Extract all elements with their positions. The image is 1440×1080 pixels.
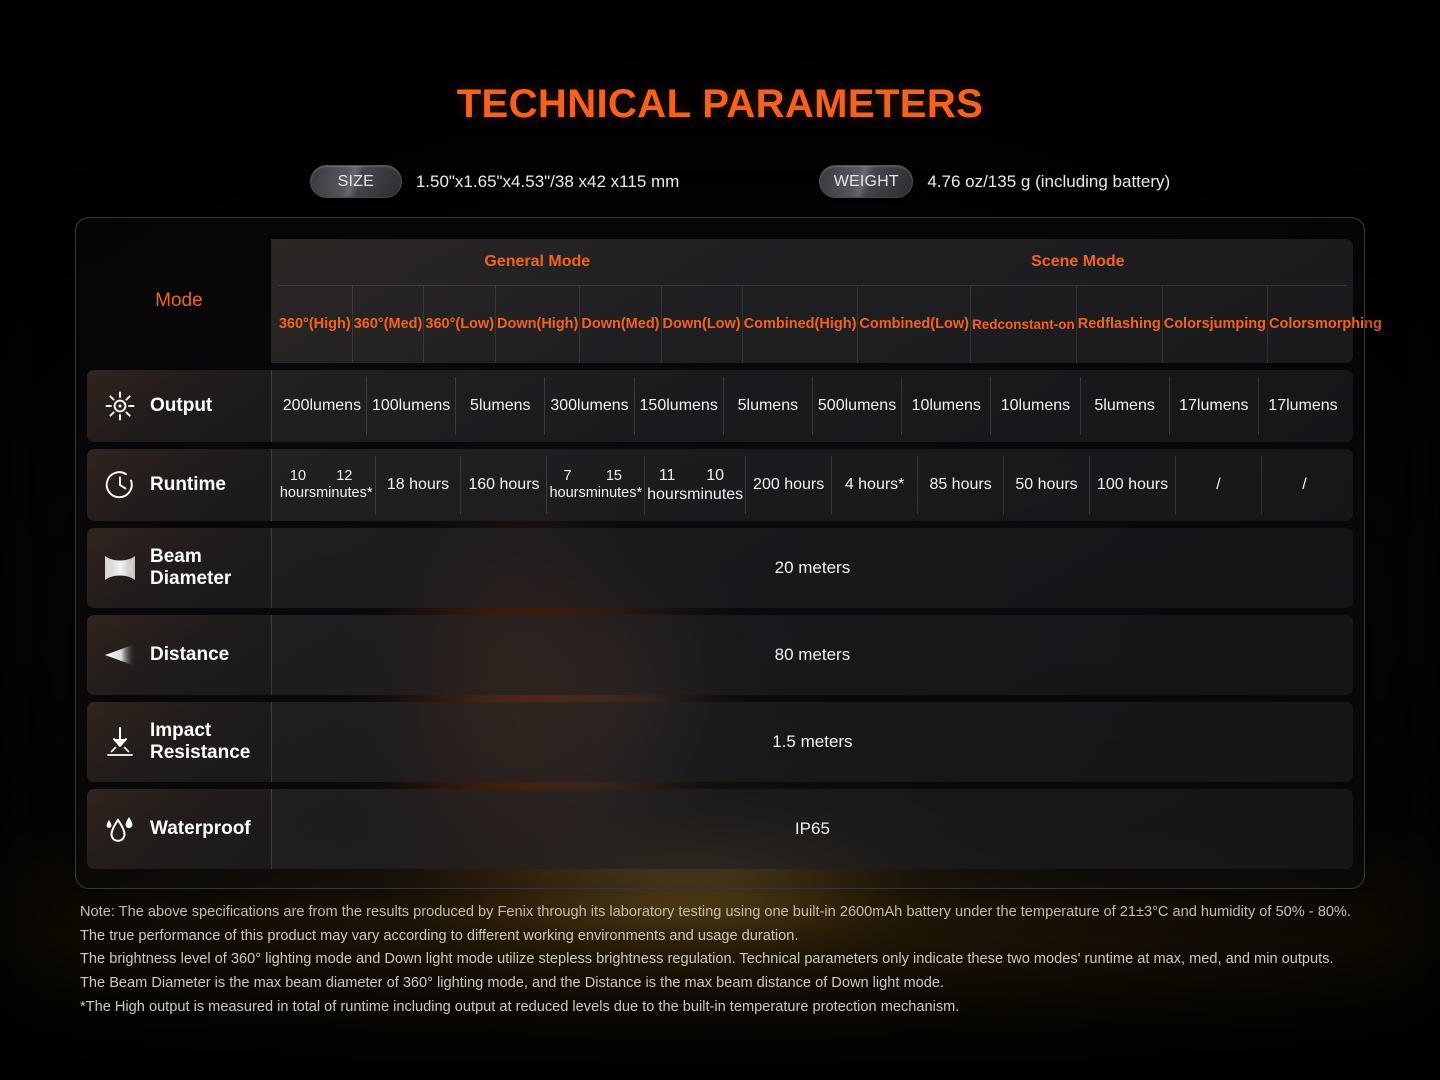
row-values-5: IP65 bbox=[272, 789, 1353, 869]
spec-weight: WEIGHT 4.76 oz/135 g (including battery) bbox=[819, 165, 1170, 198]
table-header-row: ModeGeneral ModeScene Mode360°(High)360°… bbox=[87, 239, 1353, 363]
footnote-1: The brightness level of 360° lighting mo… bbox=[80, 948, 1360, 972]
cell-r1-c1: 18 hours bbox=[375, 456, 461, 514]
column-header-8: Redconstant-on bbox=[970, 286, 1076, 363]
footnote-3: *The High output is measured in total of… bbox=[80, 996, 1360, 1020]
footnote-2: The Beam Diameter is the max beam diamet… bbox=[80, 972, 1360, 996]
column-header-7: Combined(Low) bbox=[857, 286, 970, 363]
merged-value: 20 meters bbox=[272, 528, 1353, 608]
column-header-2: 360°(Low) bbox=[423, 286, 495, 363]
cell-r1-c9: 100 hours bbox=[1089, 456, 1175, 514]
row-label-0: Output bbox=[87, 370, 272, 442]
cell-r0-c2: 5lumens bbox=[455, 377, 544, 435]
parameters-table: ModeGeneral ModeScene Mode360°(High)360°… bbox=[87, 232, 1353, 876]
cell-r1-c11: / bbox=[1261, 456, 1347, 514]
cell-r1-c4: 11 hours10 minutes bbox=[644, 456, 745, 514]
column-header-4: Down(Med) bbox=[579, 286, 660, 363]
column-header-9: Redflashing bbox=[1076, 286, 1162, 363]
row-label-1: Runtime bbox=[87, 449, 272, 521]
table-row: Runtime10 hours12 minutes*18 hours160 ho… bbox=[87, 449, 1353, 521]
row-values-2: 20 meters bbox=[272, 528, 1353, 608]
size-value: 1.50"x1.65"x4.53"/38 x42 x115 mm bbox=[416, 172, 680, 192]
waterproof-icon bbox=[103, 812, 137, 846]
row-label-text: BeamDiameter bbox=[150, 546, 231, 591]
sun-icon bbox=[103, 389, 137, 423]
weight-value: 4.76 oz/135 g (including battery) bbox=[927, 172, 1170, 192]
cell-r1-c0: 10 hours12 minutes* bbox=[278, 456, 375, 514]
row-values-1: 10 hours12 minutes*18 hours160 hours7 ho… bbox=[272, 449, 1353, 521]
footnote-0: Note: The above specifications are from … bbox=[80, 901, 1360, 948]
row-values-4: 1.5 meters bbox=[272, 702, 1353, 782]
row-label-text: Waterproof bbox=[150, 818, 251, 840]
clock-icon bbox=[103, 468, 137, 502]
page-title: TECHNICAL PARAMETERS bbox=[0, 0, 1440, 127]
cell-r1-c8: 50 hours bbox=[1003, 456, 1089, 514]
row-label-text: Runtime bbox=[150, 474, 226, 496]
merged-value: 1.5 meters bbox=[272, 702, 1353, 782]
size-pill-label: SIZE bbox=[310, 165, 402, 198]
cell-r0-c9: 5lumens bbox=[1080, 377, 1169, 435]
row-label-text: ImpactResistance bbox=[150, 720, 250, 765]
impact-resistance-icon bbox=[103, 725, 137, 759]
row-label-4: ImpactResistance bbox=[87, 702, 272, 782]
row-label-text: Distance bbox=[150, 644, 229, 666]
header-groups-cell: General ModeScene Mode360°(High)360°(Med… bbox=[272, 239, 1353, 363]
column-header-10: Colorsjumping bbox=[1162, 286, 1267, 363]
footnotes: Note: The above specifications are from … bbox=[80, 901, 1360, 1019]
cell-r0-c7: 10lumens bbox=[901, 377, 990, 435]
table-body: ModeGeneral ModeScene Mode360°(High)360°… bbox=[87, 239, 1353, 869]
cell-r1-c10: / bbox=[1175, 456, 1261, 514]
table-row: WaterproofIP65 bbox=[87, 789, 1353, 869]
row-values-0: 200lumens100lumens5lumens300lumens150lum… bbox=[272, 370, 1353, 442]
group-title-scene: Scene Mode bbox=[803, 253, 1353, 271]
cell-r1-c5: 200 hours bbox=[745, 456, 831, 514]
cell-r0-c8: 10lumens bbox=[990, 377, 1079, 435]
column-header-6: Combined(High) bbox=[742, 286, 858, 363]
table-row: Distance80 meters bbox=[87, 615, 1353, 695]
column-header-3: Down(High) bbox=[495, 286, 579, 363]
merged-value: 80 meters bbox=[272, 615, 1353, 695]
weight-pill-label: WEIGHT bbox=[819, 165, 913, 198]
table-row: BeamDiameter20 meters bbox=[87, 528, 1353, 608]
table-row: Output200lumens100lumens5lumens300lumens… bbox=[87, 370, 1353, 442]
cell-r0-c1: 100lumens bbox=[366, 377, 455, 435]
beam-diameter-icon bbox=[103, 551, 137, 585]
cell-r0-c0: 200lumens bbox=[278, 377, 366, 435]
table-row: ImpactResistance1.5 meters bbox=[87, 702, 1353, 782]
cell-r1-c2: 160 hours bbox=[460, 456, 546, 514]
cell-r0-c5: 5lumens bbox=[723, 377, 812, 435]
cell-r1-c6: 4 hours* bbox=[831, 456, 917, 514]
cell-r0-c6: 500lumens bbox=[812, 377, 901, 435]
cell-r1-c7: 85 hours bbox=[917, 456, 1003, 514]
column-header-0: 360°(High) bbox=[278, 286, 352, 363]
specs-summary-row: SIZE 1.50"x1.65"x4.53"/38 x42 x115 mm WE… bbox=[0, 165, 1440, 198]
group-title-general: General Mode bbox=[272, 253, 803, 271]
cell-r1-c3: 7 hours15 minutes* bbox=[546, 456, 644, 514]
row-label-5: Waterproof bbox=[87, 789, 272, 869]
header-mode-cell: Mode bbox=[87, 239, 272, 363]
row-label-text: Output bbox=[150, 395, 212, 417]
column-header-11: Colorsmorphing bbox=[1267, 286, 1383, 363]
row-values-3: 80 meters bbox=[272, 615, 1353, 695]
merged-value: IP65 bbox=[272, 789, 1353, 869]
cell-r0-c10: 17lumens bbox=[1169, 377, 1258, 435]
column-header-5: Down(Low) bbox=[661, 286, 742, 363]
content-layer: TECHNICAL PARAMETERS SIZE 1.50"x1.65"x4.… bbox=[0, 0, 1440, 1019]
cell-r0-c3: 300lumens bbox=[544, 377, 633, 435]
row-label-2: BeamDiameter bbox=[87, 528, 272, 608]
page-root: TECHNICAL PARAMETERS SIZE 1.50"x1.65"x4.… bbox=[0, 0, 1440, 1080]
distance-icon bbox=[103, 638, 137, 672]
cell-r0-c4: 150lumens bbox=[634, 377, 723, 435]
spec-size: SIZE 1.50"x1.65"x4.53"/38 x42 x115 mm bbox=[310, 165, 680, 198]
cell-r0-c11: 17lumens bbox=[1258, 377, 1347, 435]
parameters-panel: ModeGeneral ModeScene Mode360°(High)360°… bbox=[75, 217, 1365, 889]
column-header-1: 360°(Med) bbox=[352, 286, 424, 363]
row-label-3: Distance bbox=[87, 615, 272, 695]
